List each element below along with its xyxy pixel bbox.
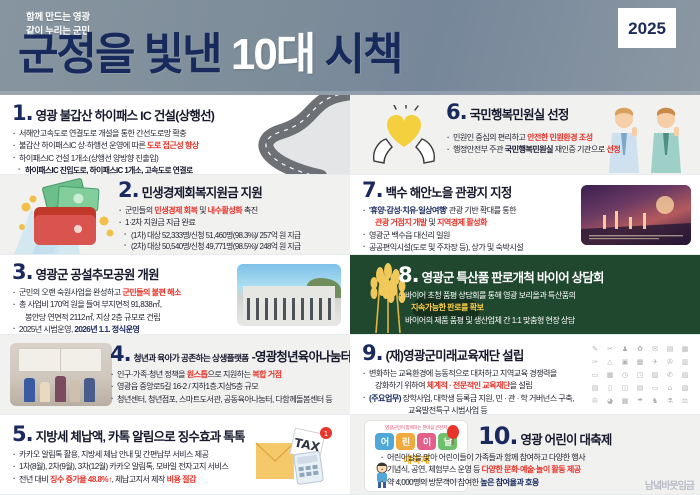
bullet: 서해안고속도로 연결도로 개설을 통한 간선도로망 확충: [12, 128, 214, 140]
policy-3-text: 3. 영광군 공설추모공원 개원 군민의 오랜 숙원사업을 완성하고 군민들의 …: [12, 262, 181, 335]
bullet: 봉안당 연면적 2112㎡, 지상 2층 규모로 건립: [12, 312, 181, 324]
coastal-sunset-photo: [581, 185, 691, 245]
grid-icon: ▧: [678, 369, 692, 381]
policy-card-8[interactable]: 8. 영광군 특산품 판로개척 바이어 상담회 바이어 초청 품평 상담회를 통…: [350, 255, 700, 335]
policy-1-number: 1.: [12, 103, 33, 124]
title-part-1: 군정을 빛낸: [18, 30, 221, 79]
policy-6-title: 국민행복민원실 선정: [470, 109, 569, 121]
grid-icon: ✇: [588, 395, 602, 407]
policy-card-10[interactable]: 영광군민이 함께하는 한마음 큰잔치 어 린 이 날 대 축 제: [350, 415, 700, 495]
bullet: 공공편익시설(도로 및 주차장 등), 상가 및 숙박시설: [362, 242, 552, 254]
festival-char: 어: [375, 433, 394, 450]
bullet: 강화하기 위하여 체계적 · 전문적인 교육재단을 설립: [362, 380, 574, 392]
grid-icon: ✑: [588, 356, 602, 368]
policy-10-number: 10.: [478, 424, 518, 448]
bullet: 인구·가족·청년 정책을 원스톱으로 지원하는 복합 거점: [110, 369, 350, 381]
policy-5-bullets: 카카오 알림톡 활용, 지방세 체납 안내 및 간편납부 서비스 제공 1차(8…: [12, 449, 245, 486]
policy-6-number: 6.: [446, 102, 467, 123]
policy-4-text: 4. 청년과 육아가 공존하는 상생플랫폼 -영광청년육아나눔터 인구·가족·청…: [110, 344, 350, 406]
bullet: 하이패스IC 진입도로, 하이패스IC 1개소, 고속도로 연결로: [12, 165, 214, 175]
memorial-park-photo: [237, 264, 341, 326]
bullet: 총 사업비 170억 원을 들여 부지면적 91,838㎡,: [12, 299, 181, 311]
year-badge: 2025: [618, 8, 676, 48]
grid-icon: ▩: [633, 356, 647, 368]
policy-card-6[interactable]: 6. 국민행복민원실 선정 민원인 중심의 편리하고 안전한 민원환경 조성 행…: [350, 95, 700, 175]
grid-icon: ✇: [663, 356, 677, 368]
bullet: 하이패스IC 건설 1개소(상행선 양방향 진출입): [12, 153, 214, 165]
bullet: 바이어 초청 품평 상담회를 통해 영광 보리올과 특산품의: [398, 290, 604, 302]
slogan-line-1: 함께 만드는 영광: [26, 11, 90, 25]
bullet: 불갑산 하이패스IC 상·하행선 운영에 따른 도로 접근성 향상: [12, 140, 214, 152]
policy-4-title: -영광청년육아나눔터: [252, 351, 350, 363]
policy-card-5[interactable]: TAX 1 5. 지방: [0, 415, 350, 495]
policy-card-2[interactable]: 2. 민생경제회복지원금 지원 군민들의 민생경제 회복 및 내수활성화 촉진 …: [0, 175, 350, 255]
policy-3-number: 3.: [12, 262, 33, 283]
page-title: 군정을 빛낸 10대 시책: [18, 33, 401, 77]
grid-icon: ◕: [603, 395, 617, 407]
policy-5-text: 5. 지방세 체납액, 카톡 알림으로 징수효과 톡톡 카카오 알림톡 활용, …: [12, 424, 245, 486]
grid-icon: ✂: [603, 343, 617, 355]
poster-root: 함께 만드는 영광 같이 누리는 군민 군정을 빛낸 10대 시책 2025: [0, 0, 700, 495]
policy-card-9[interactable]: ✎✂ ♟✿ ✉▤ ▦✑ △▣ ▩✈ ✇▥ ▭▩ ◷◳ ▨✆ ▧▤ ▯◫ ▤▭ ⌂…: [350, 335, 700, 415]
grid-icon: ⚗: [663, 395, 677, 407]
bullet: (1차) 대상 52,333명/신청 51,460명(98.3%)/ 257억 …: [118, 230, 301, 242]
grid-icon: ⌂: [663, 382, 677, 394]
grid-icon: ▧: [678, 382, 692, 394]
grid-icon: ◫: [618, 382, 632, 394]
grid-icon: ▤: [633, 382, 647, 394]
grid-icon: ▤: [588, 382, 602, 394]
bullet: 관광 거점지 개발 및 지역경제 활성화: [362, 217, 552, 229]
policy-2-number: 2.: [118, 180, 139, 201]
grid-icon: ♟: [618, 343, 632, 355]
policy-7-bullets: '휴양·감성·치유·일상여행' 관광 기반 확대를 통한 관광 거점지 개발 및…: [362, 205, 552, 255]
bullet: 군민들의 민생경제 회복 및 내수활성화 촉진: [118, 205, 301, 217]
policy-2-text: 2. 민생경제회복지원금 지원 군민들의 민생경제 회복 및 내수활성화 촉진 …: [118, 180, 301, 255]
bullet: 영광군 백수읍 대신리 일원: [362, 230, 552, 242]
bullet: (2차) 대상 50,540명/신청 49,771명(98.5%)/ 248억 …: [118, 241, 301, 253]
policy-5-number: 5.: [12, 424, 33, 445]
bullet: 지속가능한 판로를 확보: [398, 302, 604, 314]
bullet: 카카오 알림톡 활용, 지방세 체납 안내 및 간편납부 서비스 제공: [12, 449, 245, 461]
grid-icon: ♞: [648, 395, 662, 407]
svg-text:1: 1: [324, 430, 328, 438]
policy-6-bullets: 민원인 중심의 편리하고 안전한 민원환경 조성 행정안전부 주관 국민행복민원…: [446, 132, 620, 157]
grid-icon: △: [603, 356, 617, 368]
policy-card-1[interactable]: 1. 영광 불갑산 하이패스 IC 건설(상행선) 서해안고속도로 연결도로 개…: [0, 95, 350, 175]
policy-10-text: 10. 영광 어린이 대축제 어린이날을 맞아 어린이들이 가족들과 함께 참여…: [478, 424, 612, 489]
bullet: 교육발전특구 시범사업 등: [362, 405, 574, 415]
bullet: 1차(8월), 2차(9월), 3차(12월) 카카오 알림톡, 모바일 전자고…: [12, 461, 245, 473]
bullet: 변화하는 교육환경에 능동적으로 대처하고 지역교육 경쟁력을: [362, 368, 574, 380]
grid-icon: ◷: [618, 369, 632, 381]
policy-4-number: 4.: [110, 344, 131, 365]
road-illustration: [222, 95, 350, 175]
grid-icon: ▥: [678, 356, 692, 368]
grid-icon: ▩: [603, 369, 617, 381]
bullet: 약 4,000명의 방문객이 참여한 높은 참여율과 호응: [380, 477, 612, 489]
poster-header: 함께 만드는 영광 같이 누리는 군민 군정을 빛낸 10대 시책 2025: [0, 0, 700, 95]
bullet: 2025년 시범운영, 2026년 1.1. 정식운영: [12, 324, 181, 335]
policy-4-subtitle: 청년과 육아가 공존하는 상생플랫폼: [134, 352, 249, 364]
title-part-3: 시책: [325, 30, 402, 79]
policy-9-title: (재)영광군미래교육재단 설립: [386, 350, 524, 362]
title-part-2: 10대: [231, 30, 314, 79]
policy-8-text: 8. 영광군 특산품 판로개척 바이어 상담회 바이어 초청 품평 상담회를 통…: [398, 265, 604, 327]
policy-1-text: 1. 영광 불갑산 하이패스 IC 건설(상행선) 서해안고속도로 연결도로 개…: [12, 103, 214, 175]
policy-5-title: 지방세 체납액, 카톡 알림으로 징수효과 톡톡: [36, 431, 245, 443]
policy-3-title: 영광군 공설추모공원 개원: [36, 269, 159, 281]
tax-notification-illustration: TAX 1: [250, 425, 336, 487]
bullet: 기념식, 공연, 체험부스 운영 등 다양한 문화·예술·놀이 활동 제공: [380, 464, 612, 476]
policy-8-title: 영광군 특산품 판로개척 바이어 상담회: [422, 272, 604, 284]
policy-9-number: 9.: [362, 343, 383, 364]
policy-9-text: 9. (재)영광군미래교육재단 설립 변화하는 교육환경에 능동적으로 대처하고…: [362, 343, 574, 415]
svg-text:TAX: TAX: [293, 435, 322, 454]
policy-8-number: 8.: [398, 265, 419, 286]
policy-10-bullets: 어린이날을 맞아 어린이들이 가족들과 함께 참여하고 다양한 행사 기념식, …: [380, 452, 612, 489]
bullet: 바이어의 제품 품평 및 생산업체 간 1:1 맞춤형 현장 상담: [398, 315, 604, 327]
grid-icon: ▩: [618, 395, 632, 407]
grid-icon: ☂: [633, 395, 647, 407]
bullet: 행정안전부 주관 국민행복민원실 재인증 기관으로 선정: [446, 144, 620, 156]
policy-card-4[interactable]: 4. 청년과 육아가 공존하는 상생플랫폼 -영광청년육아나눔터 인구·가족·청…: [0, 335, 350, 415]
grid-icon: ▨: [648, 369, 662, 381]
heart-in-hands-icon: [368, 105, 440, 167]
left-column: 1. 영광 불갑산 하이패스 IC 건설(상행선) 서해안고속도로 연결도로 개…: [0, 95, 350, 495]
policy-2-bullets: 군민들의 민생경제 회복 및 내수활성화 촉진 1·2차 지원금 지급 완료 (…: [118, 205, 301, 255]
policy-7-number: 7.: [362, 180, 383, 201]
policy-1-title: 영광 불갑산 하이패스 IC 건설(상행선): [36, 110, 215, 122]
policy-card-7[interactable]: 7. 백수 해안노을 관광지 지정 '휴양·감성·치유·일상여행' 관광 기반 …: [350, 175, 700, 255]
grid-icon: ◳: [633, 369, 647, 381]
wallet-money-illustration: [6, 177, 130, 255]
policy-7-title: 백수 해안노을 관광지 지정: [386, 187, 512, 199]
policy-6-text: 6. 국민행복민원실 선정 민원인 중심의 편리하고 안전한 민원환경 조성 행…: [446, 102, 620, 157]
youth-childcare-photo: [10, 343, 112, 406]
watermark: 남녘바못임금: [645, 477, 694, 492]
bullet: 영광읍 중앙로5길 16-2 / 지하1층.지상5층 규모: [110, 381, 350, 393]
grid-icon: ▦: [678, 343, 692, 355]
festival-char: 린: [396, 433, 415, 450]
policy-7-text: 7. 백수 해안노을 관광지 지정 '휴양·감성·치유·일상여행' 관광 기반 …: [362, 180, 552, 255]
grid-icon: ⚖: [678, 395, 692, 407]
grid-icon: ▤: [663, 343, 677, 355]
policy-2-title: 민생경제회복지원금 지원: [142, 187, 262, 199]
policy-3-bullets: 군민의 오랜 숙원사업을 완성하고 군민들의 불편 해소 총 사업비 170억 …: [12, 287, 181, 335]
grid-icon: ▯: [603, 382, 617, 394]
bullet: '휴양·감성·치유·일상여행' 관광 기반 확대를 통한: [362, 205, 552, 217]
education-icon-grid: ✎✂ ♟✿ ✉▤ ▦✑ △▣ ▩✈ ✇▥ ▭▩ ◷◳ ▨✆ ▧▤ ▯◫ ▤▭ ⌂…: [588, 343, 692, 407]
policy-4-bullets: 인구·가족·청년 정책을 원스톱으로 지원하는 복합 거점 영광읍 중앙로5길 …: [110, 369, 350, 406]
bullet: 군민의 오랜 숙원사업을 완성하고 군민들의 불편 해소: [12, 287, 181, 299]
grid-icon: ▭: [648, 382, 662, 394]
policy-10-title: 영광 어린이 대축제: [521, 434, 612, 446]
grid-icon: ▭: [588, 369, 602, 381]
festival-balloon-icon: [445, 425, 461, 445]
grid-icon: ▣: [618, 356, 632, 368]
bullet: 청년센터, 청년점포, 스마트도서관, 공동육아나눔터, 다함께돌봄센터 등: [110, 394, 350, 406]
festival-char: 이: [417, 433, 436, 450]
right-column: 6. 국민행복민원실 선정 민원인 중심의 편리하고 안전한 민원환경 조성 행…: [350, 95, 700, 495]
grid-icon: ✿: [633, 343, 647, 355]
bullet: 1·2차 지원금 지급 완료: [118, 217, 301, 229]
grid-icon: ✎: [588, 343, 602, 355]
bullet: 민원인 중심의 편리하고 안전한 민원환경 조성: [446, 132, 620, 144]
grid-icon: ✈: [648, 356, 662, 368]
policy-grid: 1. 영광 불갑산 하이패스 IC 건설(상행선) 서해안고속도로 연결도로 개…: [0, 95, 700, 495]
bullet: 어린이날을 맞아 어린이들이 가족들과 함께 참여하고 다양한 행사: [380, 452, 612, 464]
policy-8-bullets: 바이어 초청 품평 상담회를 통해 영광 보리올과 특산품의 지속가능한 판로를…: [398, 290, 604, 327]
grid-icon: ✉: [648, 343, 662, 355]
bullet: (주요업무) 장학사업, 대학생 등록금 지원, 민 · 관 · 학 거버넌스 …: [362, 393, 574, 405]
bullet: 전년 대비 징수 증가율 48.8%↑, 체납고지서 제작 비용 절감: [12, 474, 245, 486]
policy-1-bullets: 서해안고속도로 연결도로 개설을 통한 간선도로망 확충 불갑산 하이패스IC …: [12, 128, 214, 175]
policy-9-bullets: 변화하는 교육환경에 능동적으로 대처하고 지역교육 경쟁력을 강화하기 위하여…: [362, 368, 574, 415]
grid-icon: ✆: [663, 369, 677, 381]
policy-card-3[interactable]: 3. 영광군 공설추모공원 개원 군민의 오랜 숙원사업을 완성하고 군민들의 …: [0, 255, 350, 335]
